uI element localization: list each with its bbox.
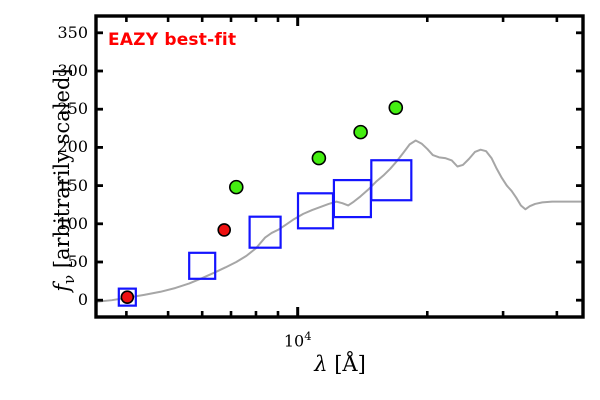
y-tick-label: 350 [40,23,88,42]
y-tick-label: 250 [40,99,88,118]
y-tick-label: 300 [40,61,88,80]
red-photometry-point [121,291,133,303]
y-tick-label: 200 [40,137,88,156]
y-tick-label: 100 [40,214,88,233]
observed-photometry-point [230,181,243,194]
annotation-eazy-best-fit: EAZY best-fit [108,30,236,50]
axis-frame-layer [96,16,583,317]
x-tick-label: 104 [268,329,328,350]
model-squares-layer [119,160,412,305]
model-flux-square [298,193,333,228]
observed-photometry-point [354,126,367,139]
green-points-layer [230,101,403,193]
spectrum-line-layer [96,141,583,302]
spectrum-curve [96,141,583,302]
red-photometry-point [218,224,230,236]
figure-canvas: EAZY best-fit fν [arbitrarily scaled] λ … [0,0,600,400]
x-axis-label: λ [Å] [95,352,585,376]
model-flux-square [250,217,281,248]
observed-photometry-point [389,101,402,114]
axis-ticks-layer [96,16,583,317]
y-tick-label: 0 [40,290,88,309]
axis-frame [96,16,583,317]
model-flux-square [334,180,371,217]
y-tick-label: 50 [40,252,88,271]
y-tick-label: 150 [40,176,88,195]
red-points-layer [121,224,230,303]
observed-photometry-point [312,152,325,165]
